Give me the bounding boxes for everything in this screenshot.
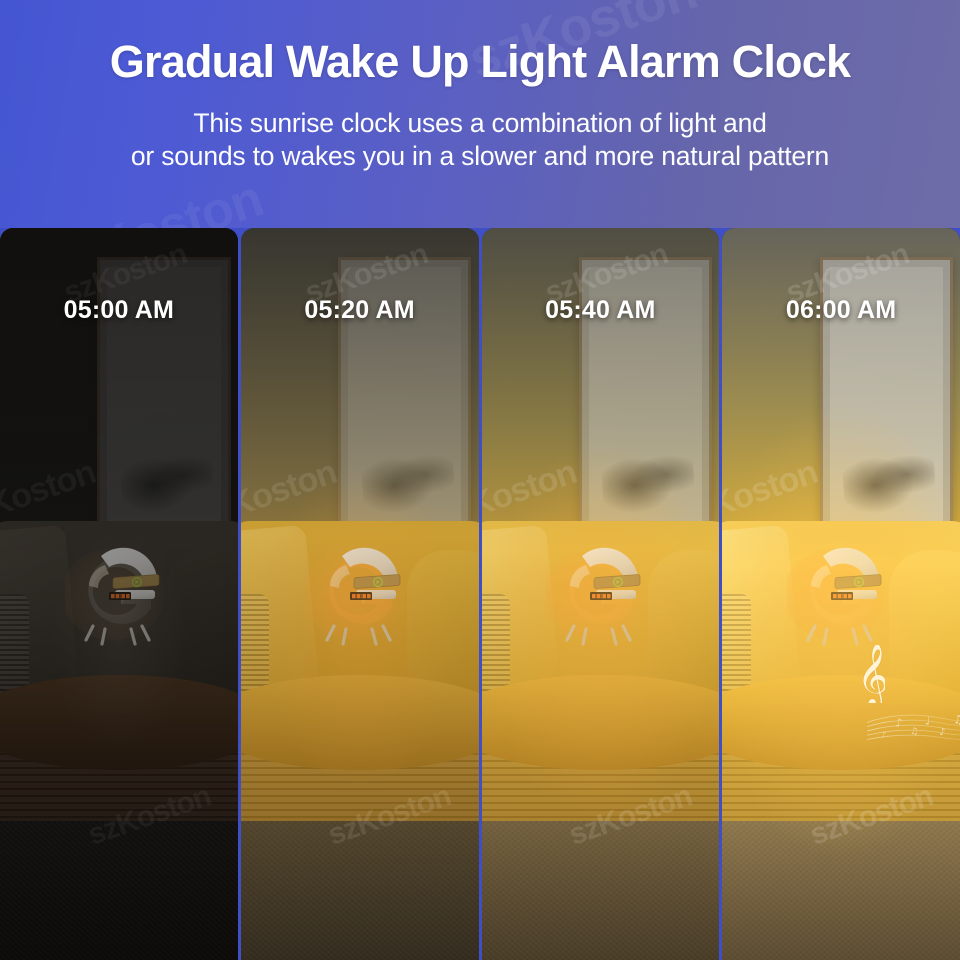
g-shaped-lamp-icon bbox=[306, 534, 414, 662]
treble-clef-icon: 𝄞 bbox=[855, 645, 885, 703]
product-marketing-image: szKoston szKoston Gradual Wake Up Light … bbox=[0, 0, 960, 960]
time-label-3: 05:40 AM bbox=[482, 296, 720, 325]
led-clock-display-icon bbox=[109, 592, 131, 600]
sunrise-panel-1: Koston szKoston szKoston 05:00 AM bbox=[0, 228, 238, 960]
g-lamp[interactable] bbox=[787, 534, 895, 662]
g-lamp[interactable] bbox=[546, 534, 654, 662]
frame-artwork bbox=[840, 433, 937, 527]
led-clock-display-icon bbox=[350, 592, 372, 600]
led-clock-display-icon bbox=[590, 592, 612, 600]
table-surface bbox=[482, 675, 720, 770]
floor-rug bbox=[0, 821, 238, 960]
subtitle-line-1: This sunrise clock uses a combination of… bbox=[193, 108, 766, 138]
floor-rug bbox=[482, 821, 720, 960]
treble-clef: 𝄞 bbox=[855, 645, 885, 703]
led-clock-display-icon bbox=[831, 592, 853, 600]
time-label-2: 05:20 AM bbox=[241, 296, 479, 325]
sunrise-sequence-strip: Koston szKoston szKoston 05:00 AM bbox=[0, 228, 960, 960]
floor-rug bbox=[241, 821, 479, 960]
floor-rug bbox=[722, 821, 960, 960]
svg-text:♪: ♪ bbox=[939, 727, 945, 738]
page-title: Gradual Wake Up Light Alarm Clock bbox=[0, 36, 960, 88]
g-shaped-lamp-icon bbox=[787, 534, 895, 662]
sunrise-panel-3: Koston szKoston szKoston 05:40 AM bbox=[482, 228, 720, 960]
svg-text:♫: ♫ bbox=[910, 727, 918, 737]
svg-text:♩: ♩ bbox=[925, 715, 930, 728]
g-shaped-lamp-icon bbox=[65, 534, 173, 662]
table-surface bbox=[241, 675, 479, 770]
frame-artwork bbox=[118, 433, 215, 527]
watermark-header-secondary: szKoston bbox=[36, 169, 269, 228]
table-surface bbox=[0, 675, 238, 770]
frame-artwork bbox=[359, 433, 456, 527]
svg-text:𝄞: 𝄞 bbox=[857, 645, 885, 703]
header-banner: szKoston szKoston Gradual Wake Up Light … bbox=[0, 0, 960, 228]
g-lamp[interactable] bbox=[65, 534, 173, 662]
time-label-4: 06:00 AM bbox=[722, 296, 960, 325]
subtitle-line-2: or sounds to wakes you in a slower and m… bbox=[0, 140, 960, 173]
page-subtitle: This sunrise clock uses a combination of… bbox=[0, 107, 960, 173]
time-label-1: 05:00 AM bbox=[0, 296, 238, 325]
g-lamp[interactable] bbox=[306, 534, 414, 662]
sunrise-panel-4: 𝄞 ♪ ♫ ♩ ♪ ♫ ♬ ♪ Koston s bbox=[722, 228, 960, 960]
sunrise-panel-2: Koston szKoston szKoston 05:20 AM bbox=[241, 228, 479, 960]
svg-text:♫: ♫ bbox=[953, 713, 960, 727]
svg-text:♪: ♪ bbox=[895, 717, 902, 730]
frame-artwork bbox=[599, 433, 696, 527]
g-shaped-lamp-icon bbox=[546, 534, 654, 662]
svg-text:♪: ♪ bbox=[881, 731, 887, 741]
